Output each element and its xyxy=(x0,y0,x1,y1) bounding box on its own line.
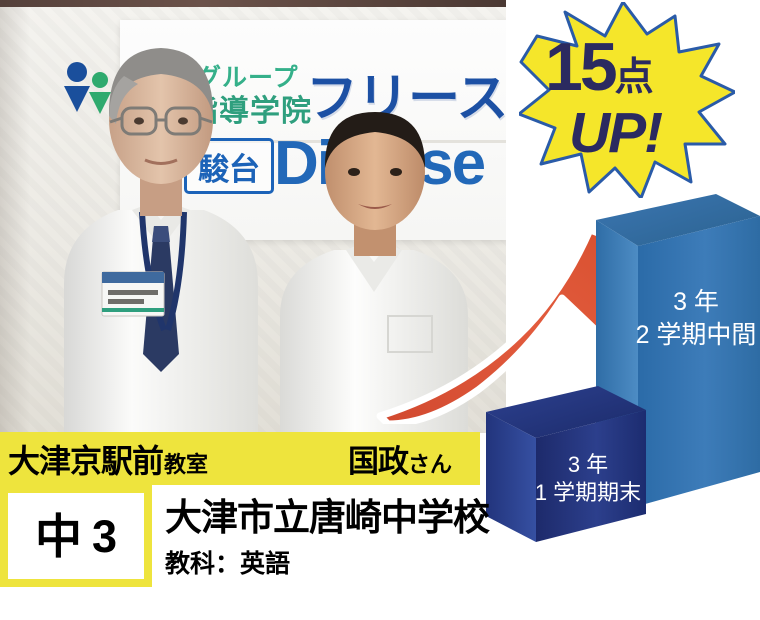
school-info: 大津市立唐崎中学校 教科：英語 xyxy=(165,498,495,580)
score-up-burst-badge: 15点 UP! xyxy=(519,2,735,198)
bar-label-term1-line1: 3 年 xyxy=(568,452,608,477)
score-comparison-chart: 3 年 2 学期中間 3 年 1 学期期末 xyxy=(478,180,760,550)
classroom-name-banner: 大津京駅前 教室 国政 さん xyxy=(0,432,480,485)
teacher-figure xyxy=(46,34,276,433)
student-honorific: さん xyxy=(408,447,452,479)
classroom-suffix: 教室 xyxy=(164,447,208,479)
wall-shadow xyxy=(0,7,30,433)
bar-label-term2-line2: 2 学期中間 xyxy=(636,321,757,349)
burst-points-number: 15 xyxy=(545,28,615,106)
name-badge-icon xyxy=(102,272,164,316)
grade-level-number: 3 xyxy=(92,514,117,559)
burst-up-label: UP! xyxy=(569,100,661,166)
grade-level-kanji: 中 xyxy=(35,513,82,560)
burst-points-unit: 点 xyxy=(615,46,653,102)
bar-label-term2-line1: 3 年 xyxy=(673,288,719,316)
photo-top-strip xyxy=(0,0,506,7)
student-name: 国政 xyxy=(348,436,408,481)
bar-label-term1-line2: 1 学期期末 xyxy=(535,480,641,505)
classroom-label: 大津京駅前 教室 xyxy=(8,436,208,482)
student-name-label: 国政 さん xyxy=(348,436,452,481)
school-name: 大津市立唐崎中学校 xyxy=(165,498,495,538)
bar-term1-final xyxy=(486,386,646,542)
grade-badge: 中 3 xyxy=(0,485,152,587)
school-subject: 教科：英語 xyxy=(165,544,495,580)
grade-badge-inner: 中 3 xyxy=(8,493,144,579)
burst-points-value: 15点 xyxy=(545,28,653,106)
promo-ad-card: グループ 指導学院 フリーステップ 駿台 Diverse xyxy=(0,0,760,620)
classroom-name: 大津京駅前 xyxy=(8,436,163,482)
